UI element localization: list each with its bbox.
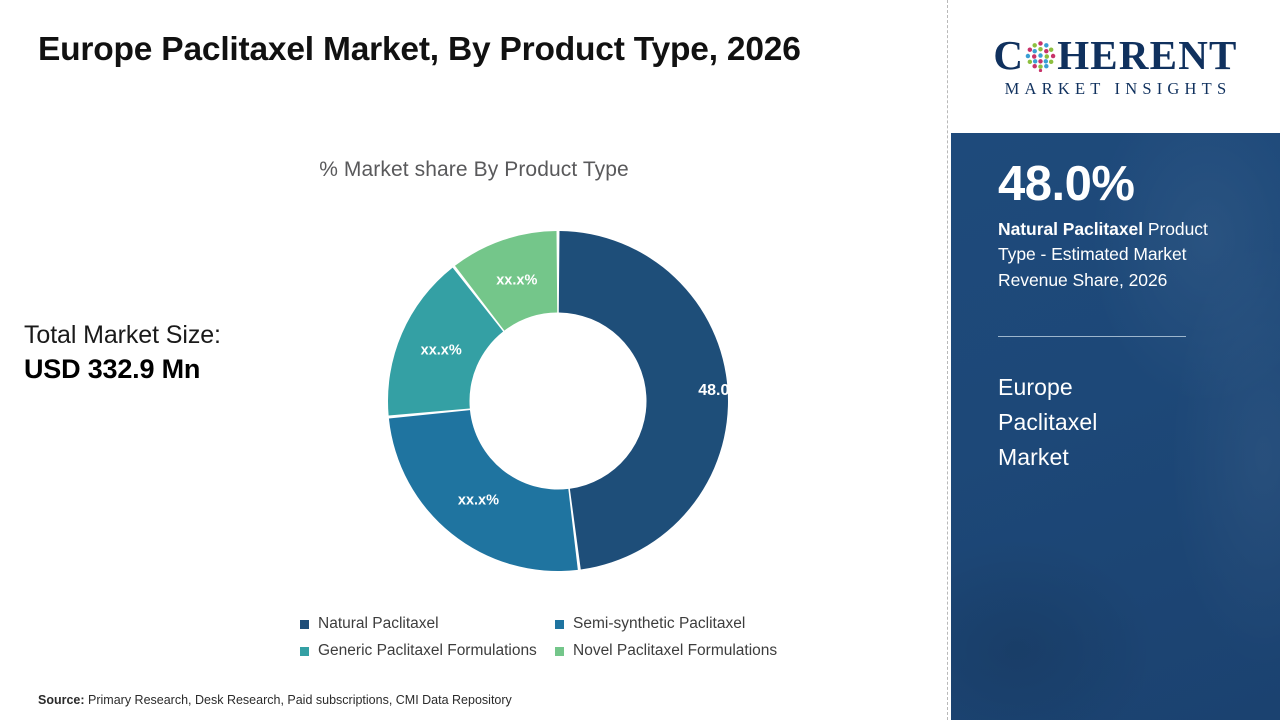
total-market-size-value: USD 332.9 Mn [24, 351, 324, 387]
stat-market-line-1: Europe [998, 370, 1233, 405]
brand-logo[interactable]: C [951, 0, 1280, 133]
donut-slice-label: xx.x% [421, 342, 462, 358]
stat-panel: 48.0% Natural Paclitaxel Product Type - … [951, 133, 1280, 720]
stat-divider-rule [998, 336, 1186, 337]
donut-slices [388, 231, 728, 571]
donut-slice-label: 48.0% [698, 382, 733, 399]
legend-swatch-icon [555, 647, 564, 656]
legend-item-semi-synthetic-paclitaxel[interactable]: Semi-synthetic Paclitaxel [555, 615, 830, 633]
stat-market-line-3: Market [998, 440, 1233, 475]
donut-slice-label: xx.x% [458, 492, 499, 508]
legend-swatch-icon [300, 647, 309, 656]
stat-market-line-2: Paclitaxel [998, 405, 1233, 440]
donut-chart-svg: 48.0%xx.x%xx.x%xx.x% [383, 226, 733, 576]
stat-market-name: Europe Paclitaxel Market [998, 370, 1233, 475]
right-panel: C [951, 0, 1280, 720]
legend-item-generic-paclitaxel-formulations[interactable]: Generic Paclitaxel Formulations [300, 642, 555, 660]
legend-label: Semi-synthetic Paclitaxel [573, 615, 745, 633]
logo-letter-c: C [993, 35, 1024, 76]
chart-subtitle: % Market share By Product Type [0, 158, 948, 182]
source-text: Primary Research, Desk Research, Paid su… [85, 693, 512, 707]
total-market-size-label: Total Market Size: [24, 320, 324, 351]
infographic-page: Europe Paclitaxel Market, By Product Typ… [0, 0, 1280, 720]
legend-swatch-icon [300, 620, 309, 629]
legend-item-novel-paclitaxel-formulations[interactable]: Novel Paclitaxel Formulations [555, 642, 830, 660]
globe-icon [1025, 41, 1056, 72]
logo-letters-herent: HERENT [1057, 35, 1237, 76]
total-market-size-block: Total Market Size: USD 332.9 Mn [24, 320, 324, 388]
legend-label: Novel Paclitaxel Formulations [573, 642, 777, 660]
donut-slice[interactable] [559, 231, 728, 569]
page-title: Europe Paclitaxel Market, By Product Typ… [38, 31, 918, 70]
source-note: Source: Primary Research, Desk Research,… [38, 693, 512, 707]
chart-legend: Natural Paclitaxel Semi-synthetic Paclit… [300, 615, 830, 660]
vertical-divider [947, 0, 948, 720]
stat-description: Natural Paclitaxel Product Type - Estima… [998, 217, 1233, 293]
logo-subtitle: MARKET INSIGHTS [1000, 79, 1232, 99]
chart-area: Europe Paclitaxel Market, By Product Typ… [0, 0, 948, 720]
stat-panel-content: 48.0% Natural Paclitaxel Product Type - … [951, 157, 1280, 475]
logo-wordmark: C [993, 35, 1237, 76]
donut-slice-label: xx.x% [496, 273, 537, 289]
legend-label: Natural Paclitaxel [318, 615, 439, 633]
legend-item-natural-paclitaxel[interactable]: Natural Paclitaxel [300, 615, 555, 633]
legend-label: Generic Paclitaxel Formulations [318, 642, 537, 660]
stat-percentage: 48.0% [998, 157, 1233, 212]
legend-swatch-icon [555, 620, 564, 629]
donut-slice[interactable] [389, 410, 578, 571]
source-prefix: Source: [38, 693, 85, 707]
stat-description-highlight: Natural Paclitaxel [998, 219, 1143, 239]
donut-chart: 48.0%xx.x%xx.x%xx.x% [383, 226, 733, 576]
